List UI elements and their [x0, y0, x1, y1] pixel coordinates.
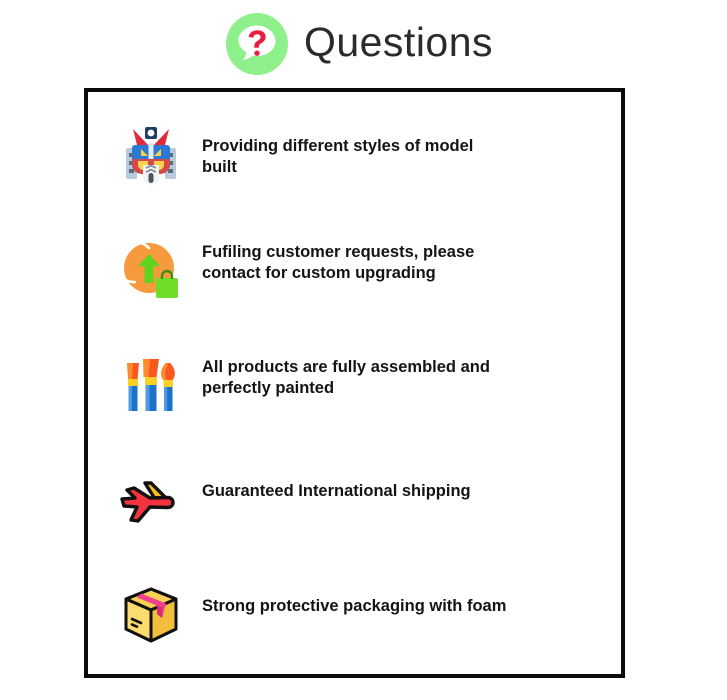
list-item-label: Strong protective packaging with foam	[188, 570, 532, 617]
faq-icon-container	[114, 233, 188, 307]
list-item-label: All products are fully assembled and per…	[188, 340, 502, 399]
airplane-icon	[119, 468, 183, 532]
list-item-label: Guaranteed International shipping	[188, 455, 502, 502]
page-header: Questions	[0, 0, 727, 88]
gundam-robot-head-icon	[119, 123, 183, 187]
list-item: All products are fully assembled and per…	[114, 340, 611, 455]
faq-icon-container	[114, 348, 188, 422]
list-item: Fufiling customer requests, please conta…	[114, 225, 611, 340]
list-item: Guaranteed International shipping	[114, 455, 611, 570]
header-inner: Questions	[226, 13, 493, 75]
page-title: Questions	[304, 22, 493, 67]
question-mark-speech-bubble-icon	[226, 13, 288, 75]
paint-brushes-icon	[119, 353, 183, 417]
list-item-label: Providing different styles of model buil…	[188, 110, 502, 178]
questions-panel: Providing different styles of model buil…	[84, 88, 625, 678]
list-item: Providing different styles of model buil…	[114, 110, 611, 225]
list-item: Strong protective packaging with foam	[114, 570, 611, 685]
package-box-icon	[119, 583, 183, 647]
faq-icon-container	[114, 578, 188, 652]
list-item-label: Fufiling customer requests, please conta…	[188, 225, 502, 284]
faq-icon-container	[114, 118, 188, 192]
faq-icon-container	[114, 463, 188, 537]
faq-list: Providing different styles of model buil…	[88, 92, 621, 674]
upgrade-shopping-bag-icon	[119, 238, 183, 302]
